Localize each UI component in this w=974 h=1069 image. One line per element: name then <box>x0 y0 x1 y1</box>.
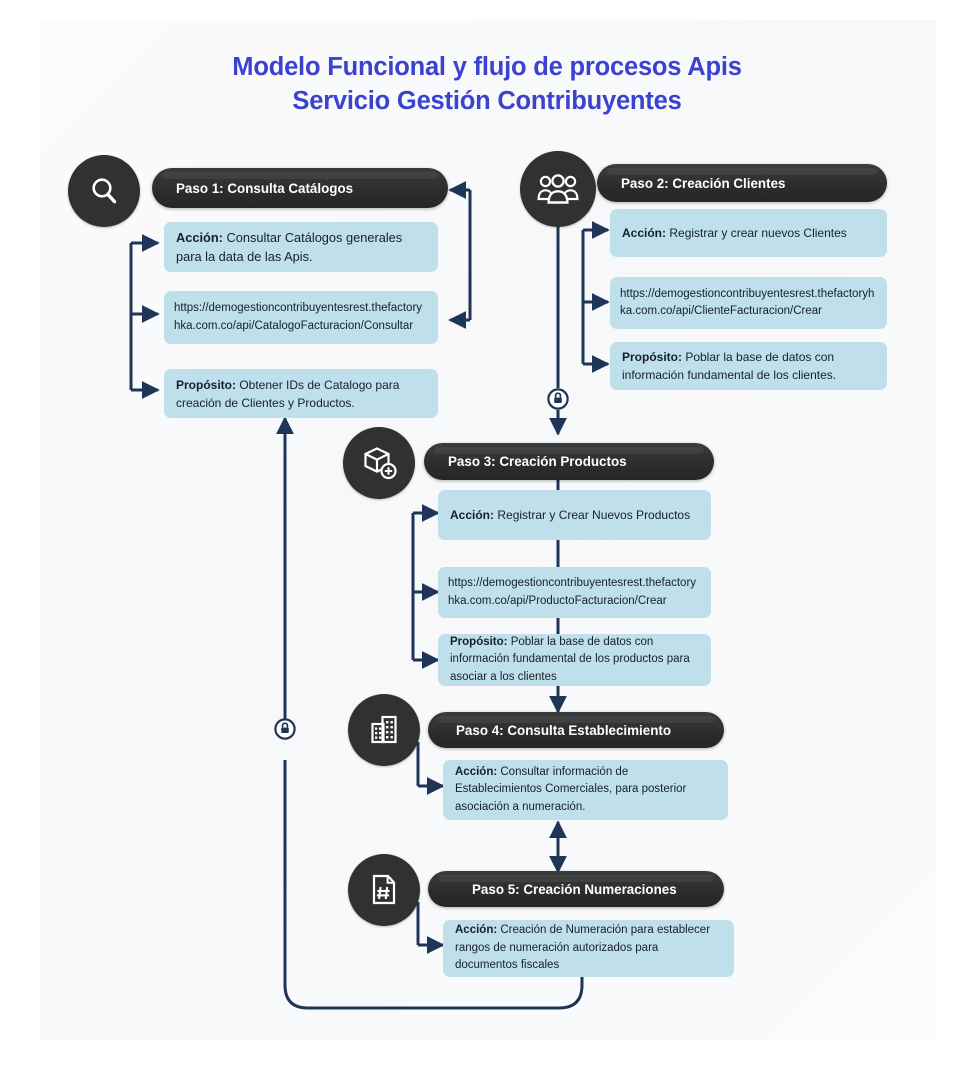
paso-3-accion-box: Acción: Registrar y Crear Nuevos Product… <box>438 490 711 540</box>
paso-5-header-bar[interactable]: Paso 5: Creación Numeraciones <box>428 871 724 907</box>
paso-5-badge <box>348 854 420 926</box>
paso-1-badge <box>68 155 140 227</box>
paso-3-accion-text: Registrar y Crear Nuevos Productos <box>494 508 690 522</box>
flow-node-upper <box>547 388 569 410</box>
lock-node-icon <box>274 718 296 740</box>
paso-3-header-bar[interactable]: Paso 3: Creación Productos <box>424 443 714 480</box>
paso-3-badge <box>343 427 415 499</box>
paso-5-accion-box: Acción: Creación de Numeración para esta… <box>443 920 734 977</box>
paso-2-url-box: https://demogestioncontribuyentesrest.th… <box>610 277 887 329</box>
paso-2-accion-box: Acción: Registrar y crear nuevos Cliente… <box>610 209 887 257</box>
paso-2-proposito-label: Propósito: <box>622 350 682 364</box>
paso-1-accion-box: Acción: Consultar Catálogos generales pa… <box>164 222 438 272</box>
paso-4-accion-label: Acción: <box>455 766 497 778</box>
building-icon <box>366 712 402 748</box>
paso-5-header-label: Paso 5: Creación Numeraciones <box>472 882 677 897</box>
paso-1-proposito-box: Propósito: Obtener IDs de Catalogo para … <box>164 369 438 418</box>
paso-3-proposito-label: Propósito: <box>450 636 508 648</box>
flow-node-lower <box>274 718 296 740</box>
lock-node-icon <box>547 388 569 410</box>
paso-4-header-label: Paso 4: Consulta Establecimiento <box>456 723 671 738</box>
paso-4-accion-box: Acción: Consultar información de Estable… <box>443 760 728 820</box>
users-icon <box>537 172 579 206</box>
paso-3-accion-label: Acción: <box>450 508 494 522</box>
paso-2-header-bar[interactable]: Paso 2: Creación Clientes <box>597 164 887 202</box>
paso-2-header-label: Paso 2: Creación Clientes <box>621 176 785 191</box>
paso-2-accion-text: Registrar y crear nuevos Clientes <box>666 226 847 240</box>
paso-5-accion-label: Acción: <box>455 924 497 936</box>
paso-1-url-box: https://demogestioncontribuyentesrest.th… <box>164 291 438 344</box>
diagram-canvas: Modelo Funcional y flujo de procesos Api… <box>0 0 974 1069</box>
paso-1-header-label: Paso 1: Consulta Catálogos <box>176 181 353 196</box>
paso-1-proposito-label: Propósito: <box>176 378 236 392</box>
paso-2-badge <box>520 151 596 227</box>
paso-3-url[interactable]: https://demogestioncontribuyentesrest.th… <box>448 575 701 610</box>
paso-2-proposito-box: Propósito: Poblar la base de datos con i… <box>610 342 887 390</box>
paso-4-header-bar[interactable]: Paso 4: Consulta Establecimiento <box>428 712 724 748</box>
paso-2-accion-label: Acción: <box>622 226 666 240</box>
paso-2-url[interactable]: https://demogestioncontribuyentesrest.th… <box>620 286 877 321</box>
paso-4-badge <box>348 694 420 766</box>
paso-1-url[interactable]: https://demogestioncontribuyentesrest.th… <box>174 300 428 335</box>
paso-1-accion-label: Acción: <box>176 230 223 245</box>
box-plus-icon <box>360 444 398 482</box>
paso-3-header-label: Paso 3: Creación Productos <box>448 454 627 469</box>
paso-1-header-bar[interactable]: Paso 1: Consulta Catálogos <box>152 168 448 208</box>
document-hash-icon <box>367 872 401 908</box>
search-icon <box>86 173 122 209</box>
paso-3-url-box: https://demogestioncontribuyentesrest.th… <box>438 567 711 618</box>
paso-3-proposito-box: Propósito: Poblar la base de datos con i… <box>438 634 711 686</box>
